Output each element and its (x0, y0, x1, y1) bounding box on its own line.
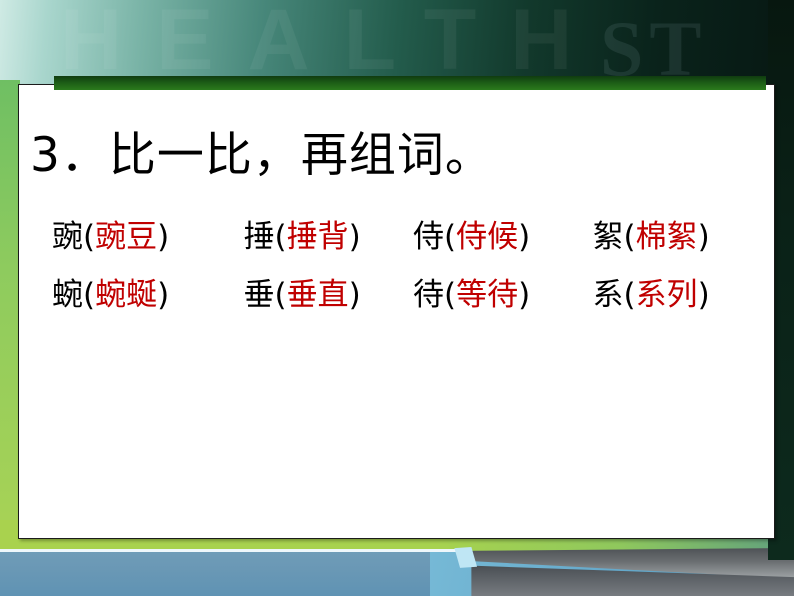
exercise-answer: 侍候 (456, 219, 518, 255)
paren-close: ) (157, 277, 169, 313)
exercise-base-char: 垂 (243, 277, 274, 313)
exercise-base-char: 蜿 (52, 277, 83, 313)
paren-open: ( (623, 277, 635, 313)
exercise-answer: 豌豆 (95, 219, 157, 255)
exercise-base-char: 侍 (413, 219, 444, 255)
exercise-item: 系(系列) (592, 266, 752, 324)
paren-close: ) (518, 219, 530, 255)
exercise-row: 蜿(蜿蜒) 垂(垂直) 待(等待) 系(系列) (52, 266, 752, 324)
decorative-white-divider-line (0, 549, 470, 552)
exercise-item: 豌(豌豆) (52, 208, 243, 266)
panel-title-bar (54, 76, 766, 90)
exercise-answer: 垂直 (287, 277, 349, 313)
paren-close: ) (349, 219, 361, 255)
paren-close: ) (157, 219, 169, 255)
exercise-item: 垂(垂直) (243, 266, 413, 324)
paren-open: ( (83, 219, 95, 255)
exercise-base-char: 捶 (243, 219, 274, 255)
exercise-base-char: 豌 (52, 219, 83, 255)
exercise-item: 侍(侍候) (413, 208, 592, 266)
exercise-item: 待(等待) (413, 266, 592, 324)
exercise-answer: 蜿蜒 (95, 277, 157, 313)
paren-open: ( (83, 277, 95, 313)
paren-close: ) (518, 277, 530, 313)
exercise-answer: 棉絮 (636, 219, 698, 255)
exercise-base-char: 待 (413, 277, 444, 313)
paren-open: ( (444, 219, 456, 255)
exercise-answer: 系列 (636, 277, 698, 313)
exercise-base-char: 系 (592, 277, 623, 313)
exercise-answer: 等待 (456, 277, 518, 313)
paren-close: ) (698, 219, 710, 255)
slide-canvas: HEALTH ST 3．比一比，再组词。 豌(豌豆) 捶(捶背) 侍(侍候) 絮… (0, 0, 794, 596)
paren-close: ) (349, 277, 361, 313)
decorative-left-green-strip (0, 80, 20, 550)
page-title: 3．比一比，再组词。 (30, 116, 493, 185)
exercise-list: 豌(豌豆) 捶(捶背) 侍(侍候) 絮(棉絮) 蜿(蜿蜒) 垂(垂直) 待(等待… (52, 208, 752, 324)
paren-open: ( (274, 277, 286, 313)
paren-open: ( (444, 277, 456, 313)
exercise-item: 絮(棉絮) (592, 208, 752, 266)
exercise-base-char: 絮 (592, 219, 623, 255)
paren-open: ( (623, 219, 635, 255)
paren-open: ( (274, 219, 286, 255)
exercise-item: 蜿(蜿蜒) (52, 266, 243, 324)
exercise-answer: 捶背 (287, 219, 349, 255)
exercise-row: 豌(豌豆) 捶(捶背) 侍(侍候) 絮(棉絮) (52, 208, 752, 266)
exercise-item: 捶(捶背) (243, 208, 413, 266)
paren-close: ) (698, 277, 710, 313)
